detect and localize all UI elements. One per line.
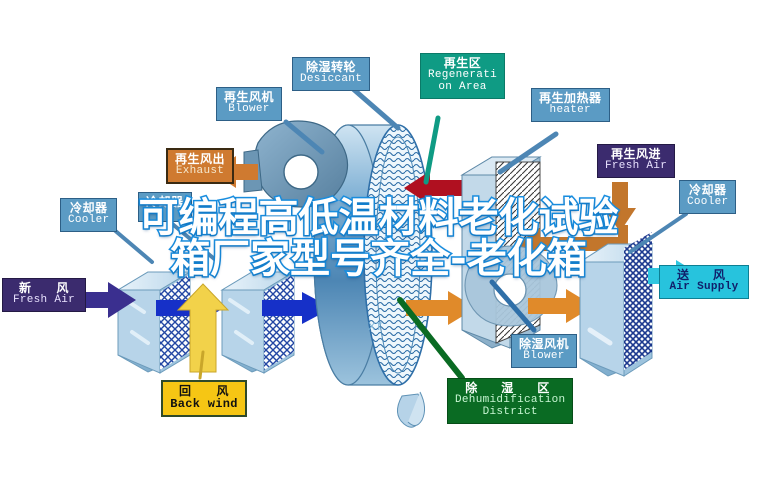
label-fresh-air-inlet-cn: 新 风 (10, 282, 78, 295)
label-cooler-left-cn: 冷却器 (68, 202, 109, 215)
label-cooler-right-cn: 冷却器 (687, 184, 728, 197)
label-dehumidification-blower-en: Blower (519, 351, 569, 363)
diagram-canvas: XT (0, 0, 757, 488)
label-cooler-right-en: Cooler (687, 197, 728, 209)
label-dehumidification-district: 除 湿 区 Dehumidification District (447, 378, 573, 424)
cooling-coil-1 (118, 272, 190, 373)
label-cooler-mid: 冷却器 (138, 192, 192, 222)
label-regeneration-blower-en: Blower (224, 104, 274, 116)
cooling-coil-2 (222, 272, 294, 373)
label-desiccant-wheel-en: Desiccant (300, 74, 362, 86)
regeneration-blower (244, 121, 348, 207)
label-back-wind: 回 风 Back wind (161, 380, 247, 417)
label-cooler-left: 冷却器 Cooler (60, 198, 117, 232)
label-regeneration-heater-cn: 再生加热器 (539, 92, 602, 105)
label-dehumidification-district-en-line2: District (455, 407, 565, 419)
label-regeneration-area: 再生区 Regenerati on Area (420, 53, 505, 99)
label-regeneration-fresh-air: 再生风进 Fresh Air (597, 144, 675, 178)
label-regeneration-fresh-air-en: Fresh Air (605, 161, 667, 173)
label-fresh-air-inlet: 新 风 Fresh Air (2, 278, 86, 312)
label-cooler-right: 冷却器 Cooler (679, 180, 736, 214)
label-dehumidification-blower: 除湿风机 Blower (511, 334, 577, 368)
label-back-wind-cn: 回 风 (170, 385, 238, 398)
label-cooler-left-en: Cooler (68, 215, 109, 227)
label-cooler-mid-cn: 冷却器 (146, 196, 184, 209)
label-desiccant-wheel: 除湿转轮 Desiccant (292, 57, 370, 91)
label-air-supply-cn: 送 风 (667, 269, 741, 282)
label-fresh-air-inlet-en: Fresh Air (10, 295, 78, 307)
label-regeneration-area-cn: 再生区 (428, 57, 497, 70)
label-air-supply-en: Air Supply (667, 282, 741, 294)
label-regeneration-heater: 再生加热器 heater (531, 88, 610, 122)
cooling-coil-right (580, 232, 652, 376)
label-regeneration-heater-en: heater (539, 105, 602, 117)
label-regeneration-blower: 再生风机 Blower (216, 87, 282, 121)
label-desiccant-wheel-cn: 除湿转轮 (300, 61, 362, 74)
label-regeneration-exhaust-en: Exhaust (175, 166, 225, 178)
label-regeneration-fresh-air-cn: 再生风进 (605, 148, 667, 161)
svg-text:XT: XT (368, 321, 382, 333)
label-regeneration-blower-cn: 再生风机 (224, 91, 274, 104)
schematic-graphics: XT (0, 0, 757, 488)
label-dehumidification-blower-cn: 除湿风机 (519, 338, 569, 351)
label-regeneration-exhaust-cn: 再生风出 (175, 153, 225, 166)
label-dehumidification-district-cn: 除 湿 区 (455, 382, 565, 395)
label-back-wind-en: Back wind (170, 398, 238, 411)
label-air-supply: 送 风 Air Supply (659, 265, 749, 299)
label-regeneration-area-en-line2: on Area (428, 82, 497, 94)
label-regeneration-exhaust: 再生风出 Exhaust (166, 148, 234, 184)
